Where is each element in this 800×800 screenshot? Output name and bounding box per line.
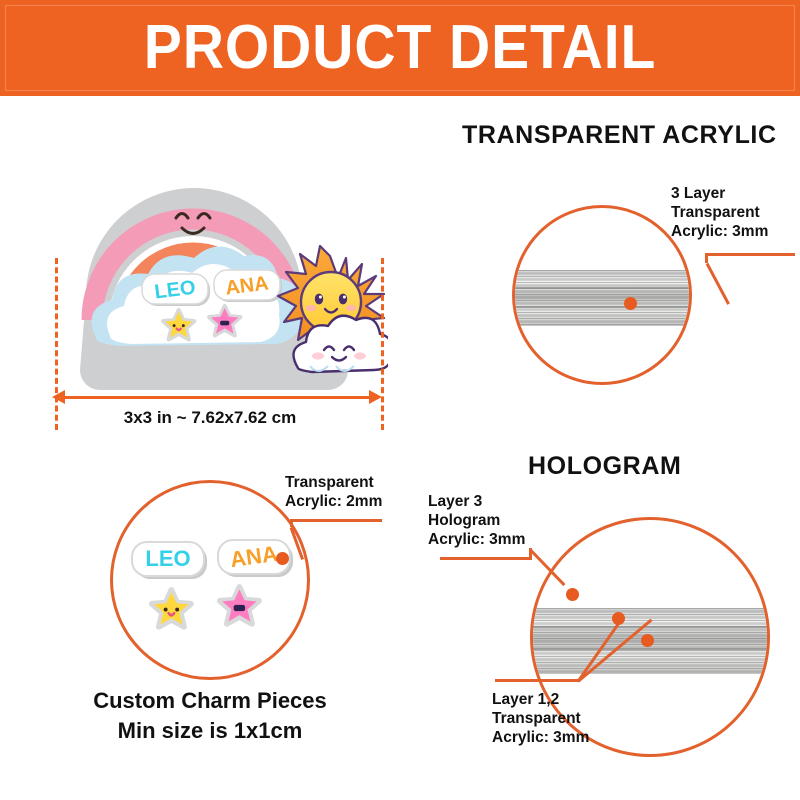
dimension-label: 3x3 in ~ 7.62x7.62 cm [40,408,380,428]
magnifier-circle-transparent-acrylic [512,205,692,385]
callout-dot-charm [276,552,289,565]
callout-leader-layer12 [495,679,580,682]
callout-leader-diagonal-transparent [706,263,730,305]
callout-leader-layer3 [440,557,532,560]
dimension-arrow-head-left [52,390,65,404]
callout-leader-elbow-charm [290,519,293,527]
acrylic-edge-texture [512,270,692,326]
dimension-arrow-head-right [369,390,382,404]
callout-hologram-layer12: Layer 1,2 Transparent Acrylic: 3mm [492,690,589,747]
acrylic-layer-separator [512,306,692,308]
section-heading-hologram: HOLOGRAM [528,452,681,481]
charm-caption: Custom Charm Pieces Min size is 1x1cm [40,686,380,746]
hologram-layer-separator [530,626,770,628]
callout-leader-transparent [705,253,795,256]
product-artwork-rainbow-charm: LEO ANA [58,124,388,392]
dimension-guide-left [55,258,58,430]
callout-hologram-layer3: Layer 3 Hologram Acrylic: 3mm [428,492,525,549]
charm-pieces-artwork: LEO ANA [129,535,297,645]
callout-leader-charm [290,519,382,522]
product-detail-infographic: PRODUCT DETAIL [0,0,800,800]
callout-charm-acrylic: Transparent Acrylic: 2mm [285,473,382,511]
callout-dot-layer12-b [641,634,654,647]
callout-dot-layer3 [566,588,579,601]
dimension-guide-right [381,258,384,430]
acrylic-sheen [512,270,692,326]
page-title: PRODUCT DETAIL [32,14,768,82]
acrylic-layer-separator [512,287,692,289]
svg-text:LEO: LEO [145,546,190,571]
magnifier-circle-charm-pieces: LEO ANA [110,480,310,680]
section-heading-transparent-acrylic: TRANSPARENT ACRYLIC [462,121,777,150]
dimension-arrow-line [60,396,375,399]
callout-dot-transparent [624,297,637,310]
callout-leader-elbow-transparent [705,253,708,263]
hologram-layer-separator [530,648,770,650]
callout-dot-layer12-a [612,612,625,625]
callout-transparent-acrylic: 3 Layer Transparent Acrylic: 3mm [671,184,768,241]
